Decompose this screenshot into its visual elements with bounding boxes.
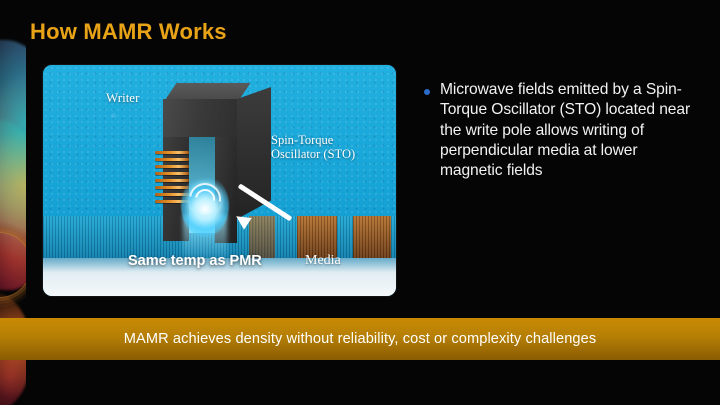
label-same-temp-as-pmr: Same temp as PMR xyxy=(128,253,262,269)
mamr-writer-illustration: Writer Spin-Torque Oscillator (STO) Medi… xyxy=(43,65,396,296)
label-spin-torque-oscillator: Spin-Torque Oscillator (STO) xyxy=(271,133,355,161)
media-block xyxy=(353,216,391,258)
label-media: Media xyxy=(305,253,341,269)
list-item: Microwave fields emitted by a Spin-Torqu… xyxy=(424,80,702,181)
bullet-dot-icon xyxy=(424,89,430,95)
media-block xyxy=(249,216,275,258)
slide-title: How MAMR Works xyxy=(30,19,227,45)
summary-banner: MAMR achieves density without reliabilit… xyxy=(0,318,720,360)
presentation-slide: How MAMR Works Writer Spin-Torque Oscill… xyxy=(0,0,720,405)
slide-footer: Western Digital. ©2017 Western Digital C… xyxy=(0,360,720,405)
bullet-list: Microwave fields emitted by a Spin-Torqu… xyxy=(424,80,702,181)
label-writer: Writer xyxy=(106,91,139,106)
media-block xyxy=(297,216,337,258)
summary-banner-text: MAMR achieves density without reliabilit… xyxy=(124,331,597,347)
bullet-text: Microwave fields emitted by a Spin-Torqu… xyxy=(440,80,702,181)
